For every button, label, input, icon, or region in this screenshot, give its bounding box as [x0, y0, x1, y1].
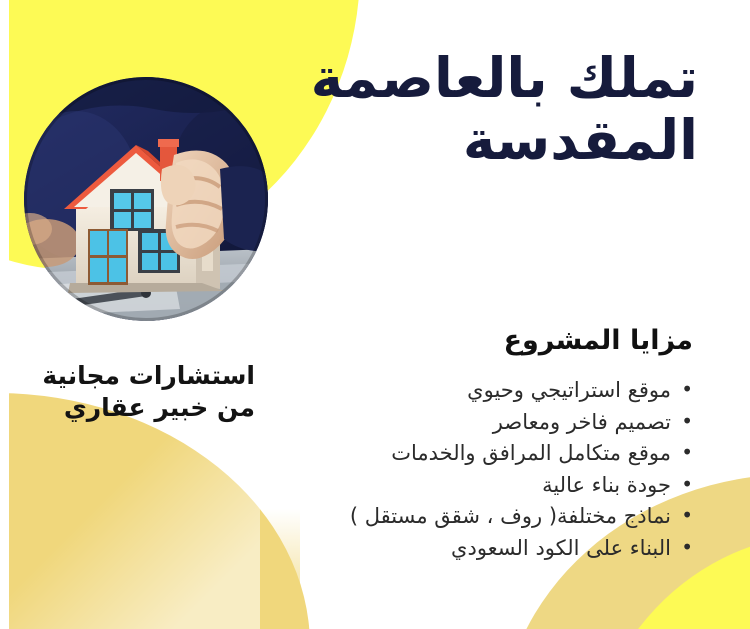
benefit-item: تصميم فاخر ومعاصر — [273, 407, 693, 439]
benefit-item: موقع استراتيجي وحيوي — [273, 375, 693, 407]
left-edge-strip — [0, 0, 9, 629]
headline-line-2: المقدسة — [178, 110, 698, 172]
headline-line-1: تملك بالعاصمة — [178, 48, 698, 110]
benefit-item: البناء على الكود السعودي — [273, 533, 693, 565]
benefits-title: مزايا المشروع — [273, 325, 693, 357]
tagline-line-2: من خبير عقاري — [7, 392, 255, 424]
benefit-item: جودة بناء عالية — [273, 470, 693, 502]
pale-wedge-soft-fade — [0, 430, 260, 629]
pale-floor-tint — [0, 509, 300, 629]
benefit-item: موقع متكامل المرافق والخدمات — [273, 438, 693, 470]
tagline: استشارات مجانية من خبير عقاري — [7, 360, 255, 424]
benefits-section: مزايا المشروع موقع استراتيجي وحيوي تصميم… — [273, 325, 693, 564]
promo-poster: تملك بالعاصمة المقدسة استشارات مجانية من… — [0, 0, 750, 629]
pale-yellow-wedge-bottom-left — [0, 393, 310, 629]
benefits-list: موقع استراتيجي وحيوي تصميم فاخر ومعاصر م… — [273, 375, 693, 564]
headline: تملك بالعاصمة المقدسة — [178, 48, 698, 171]
benefit-item: نماذج مختلفة( روف ، شقق مستقل ) — [273, 501, 693, 533]
tagline-line-1: استشارات مجانية — [7, 360, 255, 392]
